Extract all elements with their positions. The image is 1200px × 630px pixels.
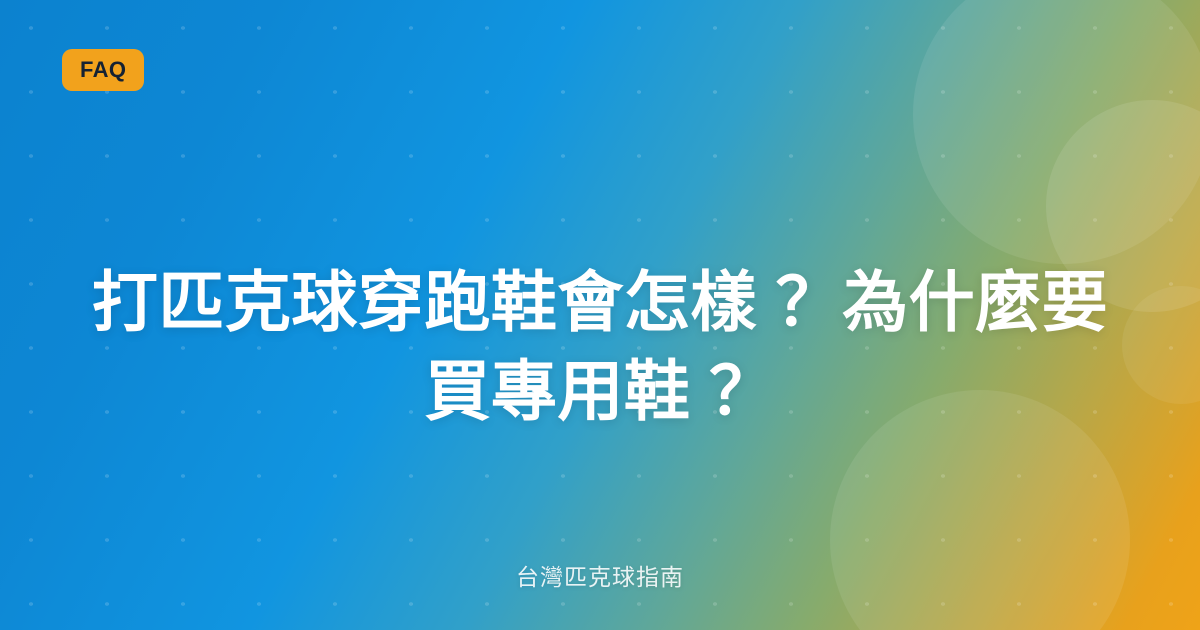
faq-badge: FAQ — [62, 49, 144, 91]
site-name-footer: 台灣匹克球指南 — [0, 558, 1200, 592]
og-card: FAQ 打匹克球穿跑鞋會怎樣 ？為什麼要買專用鞋 ？ 台灣匹克球指南 — [0, 0, 1200, 630]
page-title: 打匹克球穿跑鞋會怎樣 ？為什麼要買專用鞋 ？ — [60, 258, 1140, 435]
faq-badge-label: FAQ — [80, 59, 126, 81]
decorative-circle-large-top-right — [913, 0, 1200, 264]
